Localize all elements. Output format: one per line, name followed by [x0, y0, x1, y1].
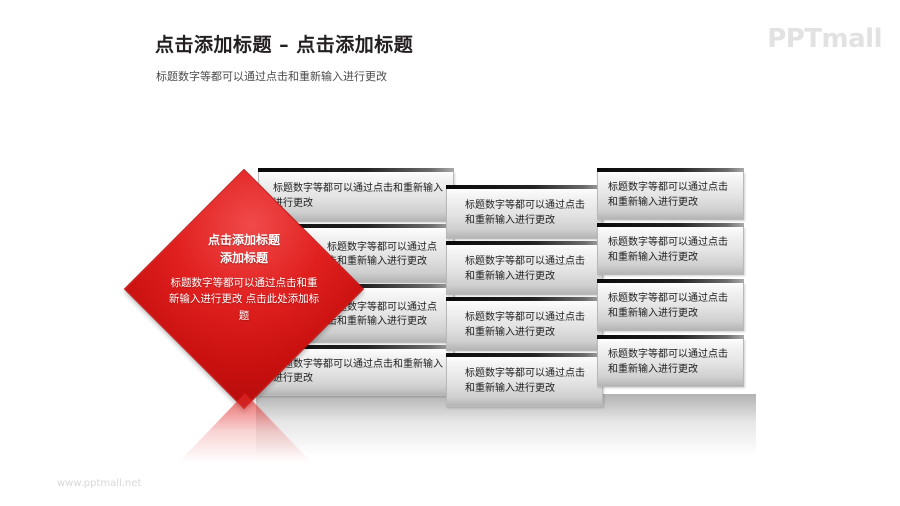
- bar-col3-1-label: 标题数字等都可以通过点击和重新输入进行更改: [598, 172, 743, 219]
- bar-col2-1-label: 标题数字等都可以通过点击和重新输入进行更改: [447, 189, 602, 238]
- bar-col2-3[interactable]: 标题数字等都可以通过点击和重新输入进行更改: [446, 301, 603, 351]
- bar-col2-4-label: 标题数字等都可以通过点击和重新输入进行更改: [447, 357, 602, 406]
- slide-canvas: 点击添加标题 – 点击添加标题 标题数字等都可以通过点击和重新输入进行更改 PP…: [0, 0, 900, 506]
- bar-col2-3-label: 标题数字等都可以通过点击和重新输入进行更改: [447, 301, 602, 350]
- bar-col3-1[interactable]: 标题数字等都可以通过点击和重新输入进行更改: [597, 172, 744, 220]
- bar-col3-4[interactable]: 标题数字等都可以通过点击和重新输入进行更改: [597, 339, 744, 387]
- bar-col3-2-label: 标题数字等都可以通过点击和重新输入进行更改: [598, 227, 743, 274]
- bar-col3-2[interactable]: 标题数字等都可以通过点击和重新输入进行更改: [597, 227, 744, 275]
- bar-col2-2-label: 标题数字等都可以通过点击和重新输入进行更改: [447, 245, 602, 294]
- bar-col2-4[interactable]: 标题数字等都可以通过点击和重新输入进行更改: [446, 357, 603, 407]
- bar-col3-3-label: 标题数字等都可以通过点击和重新输入进行更改: [598, 283, 743, 330]
- bar-col3-3[interactable]: 标题数字等都可以通过点击和重新输入进行更改: [597, 283, 744, 331]
- bar-col2-1[interactable]: 标题数字等都可以通过点击和重新输入进行更改: [446, 189, 603, 239]
- bar-col2-2[interactable]: 标题数字等都可以通过点击和重新输入进行更改: [446, 245, 603, 295]
- bar-col3-4-label: 标题数字等都可以通过点击和重新输入进行更改: [598, 339, 743, 386]
- diagram-stage: 标题数字等都可以通过点击和重新输入进行更改 标题数字等都可以通过点击和重新输入进…: [0, 0, 900, 506]
